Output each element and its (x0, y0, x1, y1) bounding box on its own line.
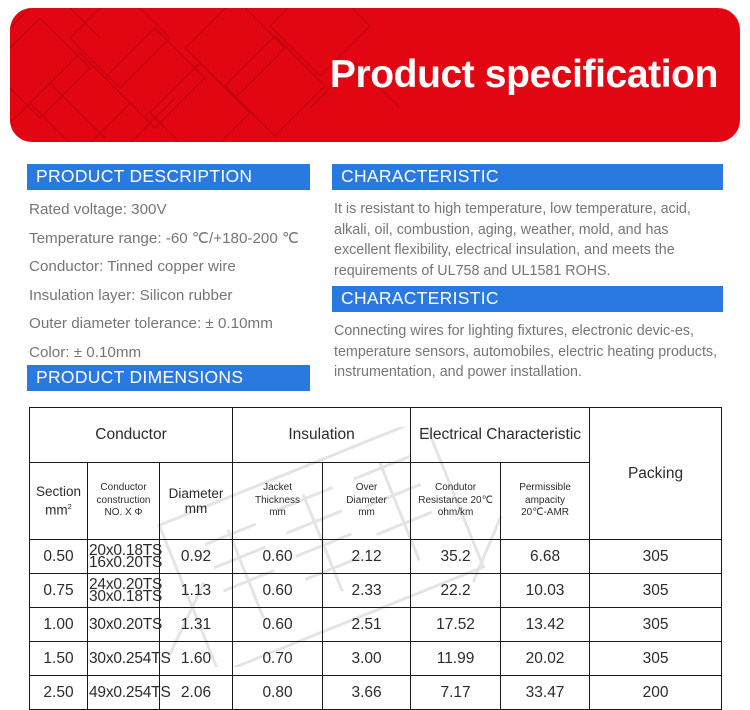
cell-jacket-thickness: 0.80 (233, 676, 323, 710)
cell-jacket-thickness: 0.70 (233, 642, 323, 676)
sub-header-od-line3: mm (358, 507, 375, 518)
cell-over-diameter: 2.12 (323, 540, 411, 574)
cell-section: 0.50 (30, 540, 88, 574)
sub-header-diameter: Diameter mm (160, 463, 233, 540)
page-title: Product specification (330, 53, 718, 97)
cell-construction: 24x0.20TS30x0.18TS (88, 574, 160, 608)
sub-header-od-line2: Diameter (346, 495, 387, 506)
sub-header-cc-line1: Conductor (100, 482, 146, 493)
sub-header-permissible-ampacity: Permissible ampacity 20℃-AMR (501, 463, 590, 540)
section-heading-product-dimensions: PRODUCT DIMENSIONS (27, 365, 310, 391)
product-description-list: Rated voltage: 300V Temperature range: -… (29, 196, 329, 367)
sub-header-pa-line1: Permissible (519, 482, 571, 493)
list-item: Outer diameter tolerance: ± 0.10mm (29, 310, 329, 339)
sub-header-pa-line3: 20℃-AMR (521, 507, 569, 518)
cell-section: 0.75 (30, 574, 88, 608)
cell-resistance: 17.52 (411, 608, 501, 642)
cell-section: 1.50 (30, 642, 88, 676)
sub-header-section: Section mm2 (30, 463, 88, 540)
cell-diameter: 1.13 (160, 574, 233, 608)
sub-header-diameter-line1: Diameter (169, 486, 224, 501)
cell-section: 1.00 (30, 608, 88, 642)
group-header-packing: Packing (590, 408, 722, 540)
cell-jacket-thickness: 0.60 (233, 574, 323, 608)
cell-over-diameter: 2.33 (323, 574, 411, 608)
specifications-table: Conductor Insulation Electrical Characte… (29, 407, 722, 710)
group-header-electrical-characteristic: Electrical Characteristic (411, 408, 590, 463)
cell-section: 2.50 (30, 676, 88, 710)
sub-header-od-line1: Over (356, 482, 378, 493)
cell-diameter: 0.92 (160, 540, 233, 574)
characteristic-1-body: It is resistant to high temperature, low… (334, 199, 724, 281)
cell-packing: 305 (590, 574, 722, 608)
sub-header-jt-line2: Thickness (255, 495, 300, 506)
sub-header-over-diameter: Over Diameter mm (323, 463, 411, 540)
list-item: Insulation layer: Silicon rubber (29, 282, 329, 311)
cell-jacket-thickness: 0.60 (233, 608, 323, 642)
table-row: 0.50 20x0.18TS16x0.20TS 0.92 0.60 2.12 3… (30, 540, 722, 574)
table-row: 1.50 30x0.254TS 1.60 0.70 3.00 11.99 20.… (30, 642, 722, 676)
sub-header-section-line1: Section (36, 484, 81, 499)
table-row: 2.50 49x0.254TS 2.06 0.80 3.66 7.17 33.4… (30, 676, 722, 710)
table-row: 1.00 30x0.20TS 1.31 0.60 2.51 17.52 13.4… (30, 608, 722, 642)
section-heading-product-description: PRODUCT DESCRIPTION (27, 164, 310, 190)
group-header-insulation: Insulation (233, 408, 411, 463)
cell-diameter: 1.31 (160, 608, 233, 642)
table-row: 0.75 24x0.20TS30x0.18TS 1.13 0.60 2.33 2… (30, 574, 722, 608)
sub-header-jt-line3: mm (269, 507, 286, 518)
cell-resistance: 35.2 (411, 540, 501, 574)
cell-construction: 30x0.254TS (88, 642, 160, 676)
sub-header-jacket-thickness: Jacket Thickness mm (233, 463, 323, 540)
cell-packing: 305 (590, 540, 722, 574)
sub-header-cc-line2: construction (97, 495, 151, 506)
cell-ampacity: 33.47 (501, 676, 590, 710)
product-dimensions-table-wrapper: Conductor Insulation Electrical Characte… (29, 407, 721, 692)
table-group-header-row: Conductor Insulation Electrical Characte… (30, 408, 722, 463)
cell-resistance: 22.2 (411, 574, 501, 608)
cell-ampacity: 6.68 (501, 540, 590, 574)
cell-packing: 305 (590, 642, 722, 676)
cell-ampacity: 10.03 (501, 574, 590, 608)
sub-header-cr-line1: Condutor (435, 482, 476, 493)
list-item: Color: ± 0.10mm (29, 339, 329, 368)
sub-header-diameter-line2: mm (185, 501, 208, 516)
list-item: Conductor: Tinned copper wire (29, 253, 329, 282)
cell-over-diameter: 3.66 (323, 676, 411, 710)
section-heading-characteristic-1: CHARACTERISTIC (332, 164, 723, 190)
cell-jacket-thickness: 0.60 (233, 540, 323, 574)
cell-construction: 30x0.20TS (88, 608, 160, 642)
cell-construction: 20x0.18TS16x0.20TS (88, 540, 160, 574)
sub-header-jt-line1: Jacket (263, 482, 292, 493)
cell-construction: 49x0.254TS (88, 676, 160, 710)
cell-resistance: 7.17 (411, 676, 501, 710)
cell-ampacity: 20.02 (501, 642, 590, 676)
sub-header-cr-line3: ohm/km (438, 507, 474, 518)
sub-header-cc-line3: NO. X Φ (105, 507, 143, 518)
cell-over-diameter: 3.00 (323, 642, 411, 676)
list-item: Temperature range: -60 ℃/+180-200 ℃ (29, 225, 329, 254)
cell-over-diameter: 2.51 (323, 608, 411, 642)
cell-packing: 305 (590, 608, 722, 642)
list-item: Rated voltage: 300V (29, 196, 329, 225)
sub-header-section-line2: mm (45, 503, 68, 518)
sub-header-pa-line2: ampacity (525, 495, 565, 506)
sub-header-conductor-construction: Conductor construction NO. X Φ (88, 463, 160, 540)
header-banner: Product specification (10, 8, 740, 142)
sub-header-cr-line2: Resistance 20℃ (418, 495, 493, 506)
characteristic-2-body: Connecting wires for lighting fixtures, … (334, 321, 724, 383)
group-header-conductor: Conductor (30, 408, 233, 463)
section-heading-characteristic-2: CHARACTERISTIC (332, 286, 723, 312)
cell-resistance: 11.99 (411, 642, 501, 676)
sub-header-section-sup: 2 (68, 502, 72, 511)
cell-packing: 200 (590, 676, 722, 710)
cell-ampacity: 13.42 (501, 608, 590, 642)
sub-header-conductor-resistance: Condutor Resistance 20℃ ohm/km (411, 463, 501, 540)
